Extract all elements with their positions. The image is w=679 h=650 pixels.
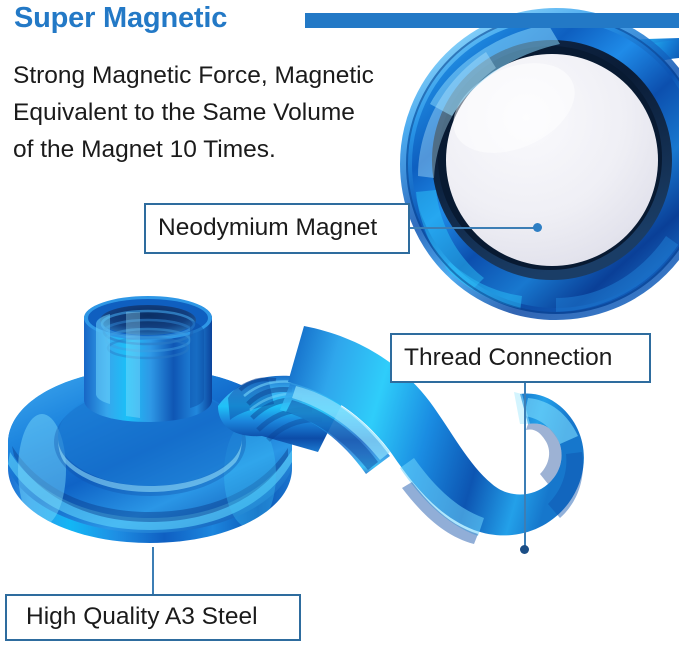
leader-dot-thread	[520, 545, 529, 554]
magnet-cup-left	[4, 296, 296, 544]
callout-label: Neodymium Magnet	[158, 216, 377, 241]
callout-neodymium-magnet: Neodymium Magnet	[144, 203, 410, 254]
description-line-2: Equivalent to the Same Volume	[13, 94, 433, 131]
page-title: Super Magnetic	[14, 2, 227, 35]
leader-line-steel	[152, 547, 154, 595]
heading-accent-bar	[305, 13, 679, 28]
callout-label: High Quality A3 Steel	[26, 605, 258, 630]
description-line-3: of the Magnet 10 Times.	[13, 131, 433, 168]
leader-line-thread	[524, 383, 526, 550]
infographic-canvas: Super Magnetic Strong Magnetic Force, Ma…	[0, 0, 679, 650]
description-line-1: Strong Magnetic Force, Magnetic	[13, 57, 433, 94]
callout-label: Thread Connection	[404, 346, 612, 371]
magnet-disc-top-right	[406, 14, 679, 330]
leader-dot-neodymium	[533, 223, 542, 232]
threaded-rod	[218, 376, 344, 452]
leader-line-neodymium	[410, 227, 537, 229]
magnet-arm-top	[548, 38, 679, 196]
callout-thread-connection: Thread Connection	[390, 333, 651, 383]
callout-high-quality-a3-steel: High Quality A3 Steel	[5, 594, 301, 641]
description-text: Strong Magnetic Force, Magnetic Equivale…	[13, 57, 433, 168]
